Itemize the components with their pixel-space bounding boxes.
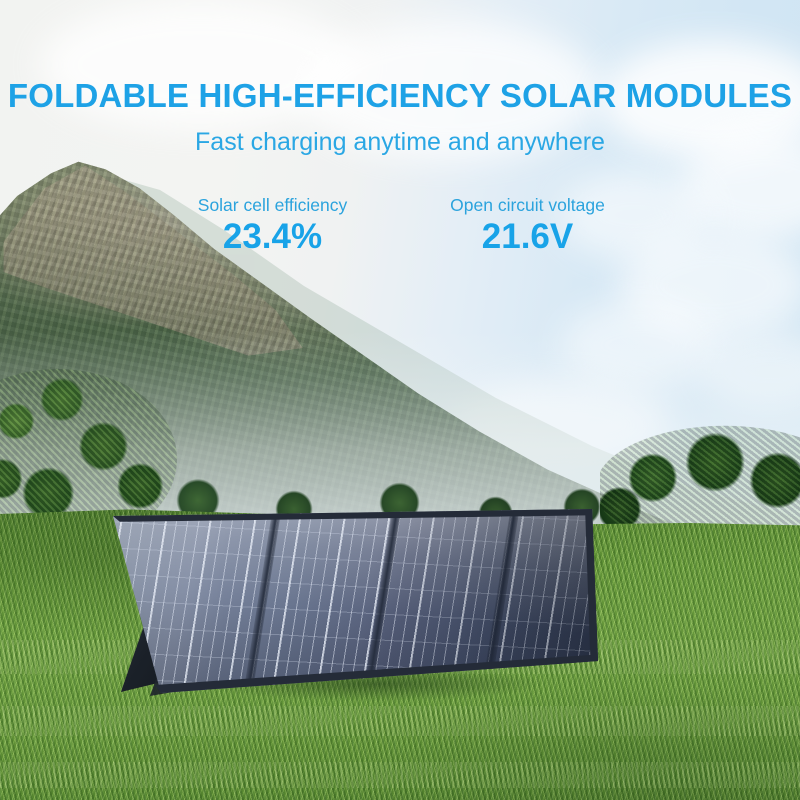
stat-open-circuit-voltage: Open circuit voltage 21.6V xyxy=(400,196,655,258)
stat-solar-cell-efficiency: Solar cell efficiency 23.4% xyxy=(145,196,400,258)
stat-label: Solar cell efficiency xyxy=(145,196,400,215)
product-banner-image: FOLDABLE HIGH-EFFICIENCY SOLAR MODULES F… xyxy=(0,0,800,800)
stat-value: 23.4% xyxy=(145,217,400,257)
spec-stats: Solar cell efficiency 23.4% Open circuit… xyxy=(145,196,655,258)
stat-value: 21.6V xyxy=(400,217,655,257)
page-subtitle: Fast charging anytime and anywhere xyxy=(0,128,800,157)
solar-panel-group xyxy=(0,0,800,800)
page-title: FOLDABLE HIGH-EFFICIENCY SOLAR MODULES xyxy=(6,78,794,116)
stat-label: Open circuit voltage xyxy=(400,196,655,215)
